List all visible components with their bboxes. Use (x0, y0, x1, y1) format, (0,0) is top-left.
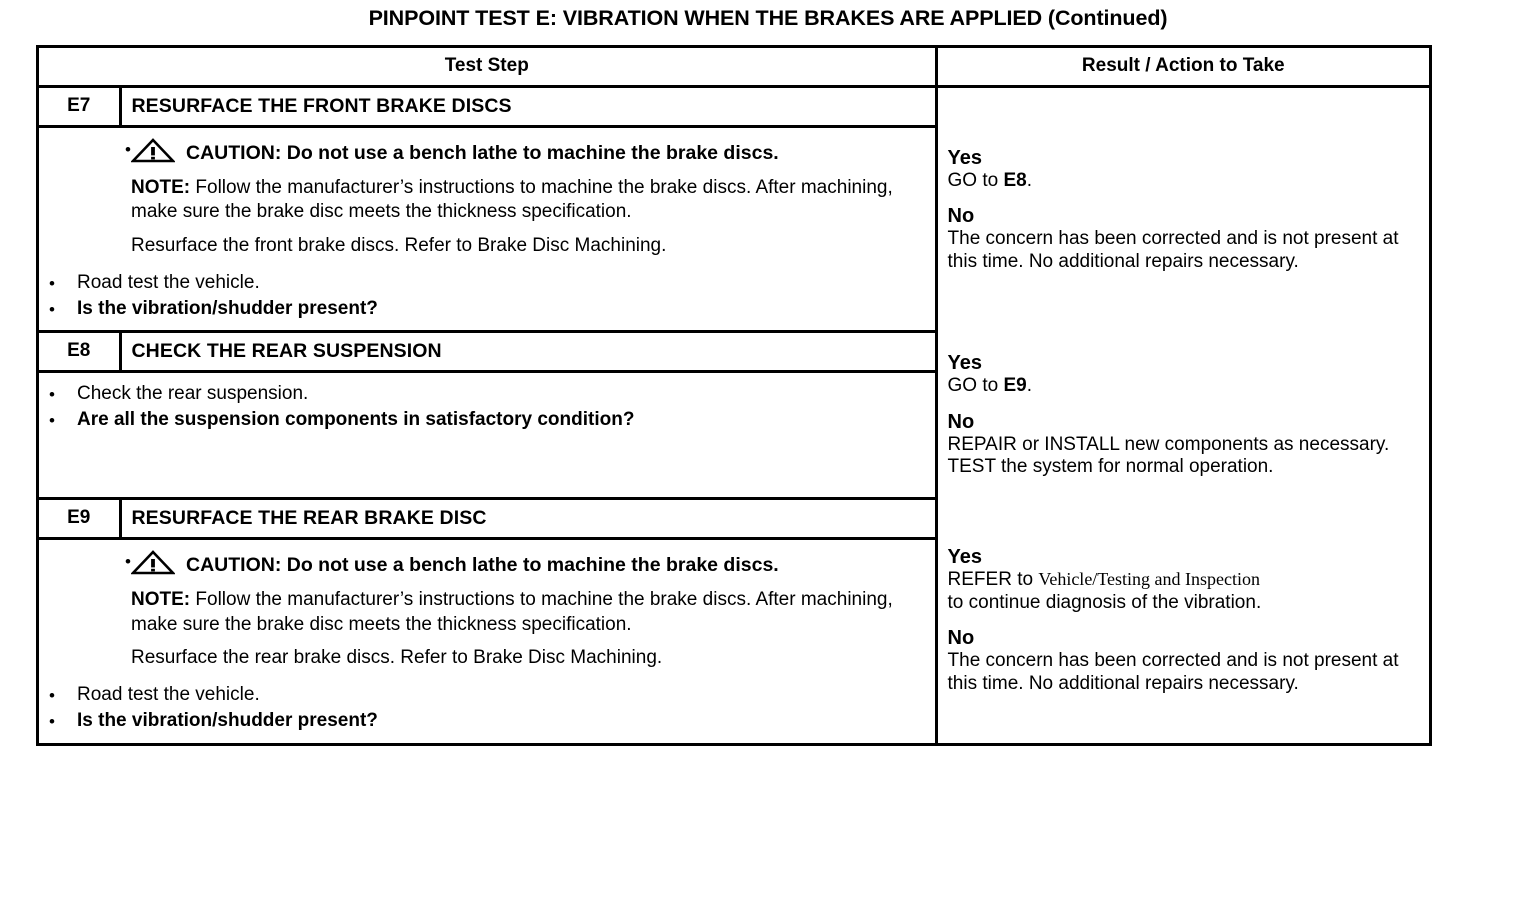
table-row: E9 RESURFACE THE REAR BRAKE DISC Yes REF… (39, 499, 1429, 539)
step-body-e7: • (39, 127, 936, 332)
table-row: E7 RESURFACE THE FRONT BRAKE DISCS Yes G… (39, 87, 1429, 127)
list-item: • (39, 138, 923, 258)
step-bullet-2-e7: Is the vibration/shudder present? (77, 298, 923, 321)
caution-label-e9: CAUTION: (186, 554, 281, 576)
note-text-e9: Follow the manufacturer’s instructions t… (131, 589, 893, 634)
yes-ref-e7: E8 (1003, 170, 1026, 191)
step-title-e8: CHECK THE REAR SUSPENSION (120, 332, 936, 372)
table-row: E8 CHECK THE REAR SUSPENSION Yes GO to E… (39, 332, 1429, 372)
column-header-result-action: Result / Action to Take (936, 48, 1429, 87)
page-title: PINPOINT TEST E: VIBRATION WHEN THE BRAK… (0, 6, 1536, 31)
bullet-icon: • (39, 684, 77, 706)
yes-text-e8: GO to (948, 375, 1004, 396)
action-text-e9: Resurface the rear brake discs. Refer to… (131, 646, 923, 670)
step-id-e9: E9 (39, 499, 120, 539)
result-no-text-e8: REPAIR or INSTALL new components as nece… (948, 434, 1422, 479)
result-no-label-e9: No (948, 627, 1422, 650)
list-item: • Is the vibration/shudder present? (39, 298, 923, 321)
bullet-icon: • (39, 298, 77, 320)
warning-triangle-icon (131, 138, 175, 170)
yes-ref-e8: E9 (1003, 375, 1026, 396)
step-bullet-1-e7: Road test the vehicle. (77, 272, 923, 295)
note-block-e7: NOTE: Follow the manufacturer’s instruct… (131, 176, 923, 225)
yes-tail-e7: . (1027, 170, 1032, 191)
table-header-row: Test Step Result / Action to Take (39, 48, 1429, 87)
caution-label-e7: CAUTION: (186, 142, 281, 164)
list-item: • (39, 550, 923, 670)
bullet-icon: • (39, 272, 77, 294)
step-bullet-2-e8: Are all the suspension components in sat… (77, 409, 737, 432)
yes-prefix-e9: REFER to (948, 569, 1039, 590)
list-item: • Check the rear suspension. (39, 383, 923, 406)
pinpoint-test-table: Test Step Result / Action to Take E7 RES… (36, 45, 1432, 746)
caution-line-e9: CAUTION: Do not use a bench lathe to mac… (131, 550, 923, 582)
result-yes-text-e7: GO to E8. (948, 170, 1422, 193)
step-body-e8: • Check the rear suspension. • Are all t… (39, 372, 936, 499)
result-no-label-e7: No (948, 205, 1422, 228)
note-block-e9: NOTE: Follow the manufacturer’s instruct… (131, 588, 923, 637)
caution-text-e9: Do not use a bench lathe to machine the … (287, 554, 779, 576)
result-yes-label-e8: Yes (948, 352, 1422, 375)
note-text-e7: Follow the manufacturer’s instructions t… (131, 177, 893, 222)
step-id-e8: E8 (39, 332, 120, 372)
result-yes-label-e7: Yes (948, 147, 1422, 170)
result-no-text-e9: The concern has been corrected and is no… (948, 650, 1422, 695)
result-yes-line1-e9: REFER to Vehicle/Testing and Inspection (948, 569, 1422, 592)
document-page: PINPOINT TEST E: VIBRATION WHEN THE BRAK… (0, 0, 1536, 900)
caution-text-e7: Do not use a bench lathe to machine the … (287, 142, 779, 164)
bullet-icon: • (39, 138, 131, 160)
step-title-e9: RESURFACE THE REAR BRAKE DISC (120, 499, 936, 539)
action-text-e7: Resurface the front brake discs. Refer t… (131, 234, 923, 258)
yes-ref-link-e9[interactable]: Vehicle/Testing and Inspection (1038, 569, 1260, 589)
list-item: • Is the vibration/shudder present? (39, 710, 923, 733)
result-yes-text-e8: GO to E9. (948, 375, 1422, 398)
bullet-icon: • (39, 550, 131, 572)
step-bullet-1-e8: Check the rear suspension. (77, 383, 923, 406)
bullet-icon: • (39, 710, 77, 732)
step-bullet-1-e9: Road test the vehicle. (77, 684, 923, 707)
note-label-e9: NOTE: (131, 589, 190, 610)
result-yes-line2-e9: to continue diagnosis of the vibration. (948, 592, 1422, 615)
bullet-icon: • (39, 409, 77, 431)
list-item: • Are all the suspension components in s… (39, 409, 923, 432)
yes-text-e7: GO to (948, 170, 1004, 191)
result-no-label-e8: No (948, 411, 1422, 434)
step-title-e7: RESURFACE THE FRONT BRAKE DISCS (120, 87, 936, 127)
list-item: • Road test the vehicle. (39, 272, 923, 295)
step-id-e7: E7 (39, 87, 120, 127)
result-cell-e9: Yes REFER to Vehicle/Testing and Inspect… (936, 499, 1429, 743)
caution-line-e7: CAUTION: Do not use a bench lathe to mac… (131, 138, 923, 170)
yes-tail-e8: . (1027, 375, 1032, 396)
step-bullet-2-e9: Is the vibration/shudder present? (77, 710, 923, 733)
result-yes-label-e9: Yes (948, 546, 1422, 569)
result-cell-e8: Yes GO to E9. No REPAIR or INSTALL new c… (936, 332, 1429, 499)
result-cell-e7: Yes GO to E8. No The concern has been co… (936, 87, 1429, 332)
warning-triangle-icon (131, 550, 175, 582)
column-header-test-step: Test Step (39, 48, 936, 87)
bullet-icon: • (39, 383, 77, 405)
list-item: • Road test the vehicle. (39, 684, 923, 707)
step-body-e9: • (39, 539, 936, 743)
result-no-text-e7: The concern has been corrected and is no… (948, 228, 1422, 273)
note-label-e7: NOTE: (131, 177, 190, 198)
